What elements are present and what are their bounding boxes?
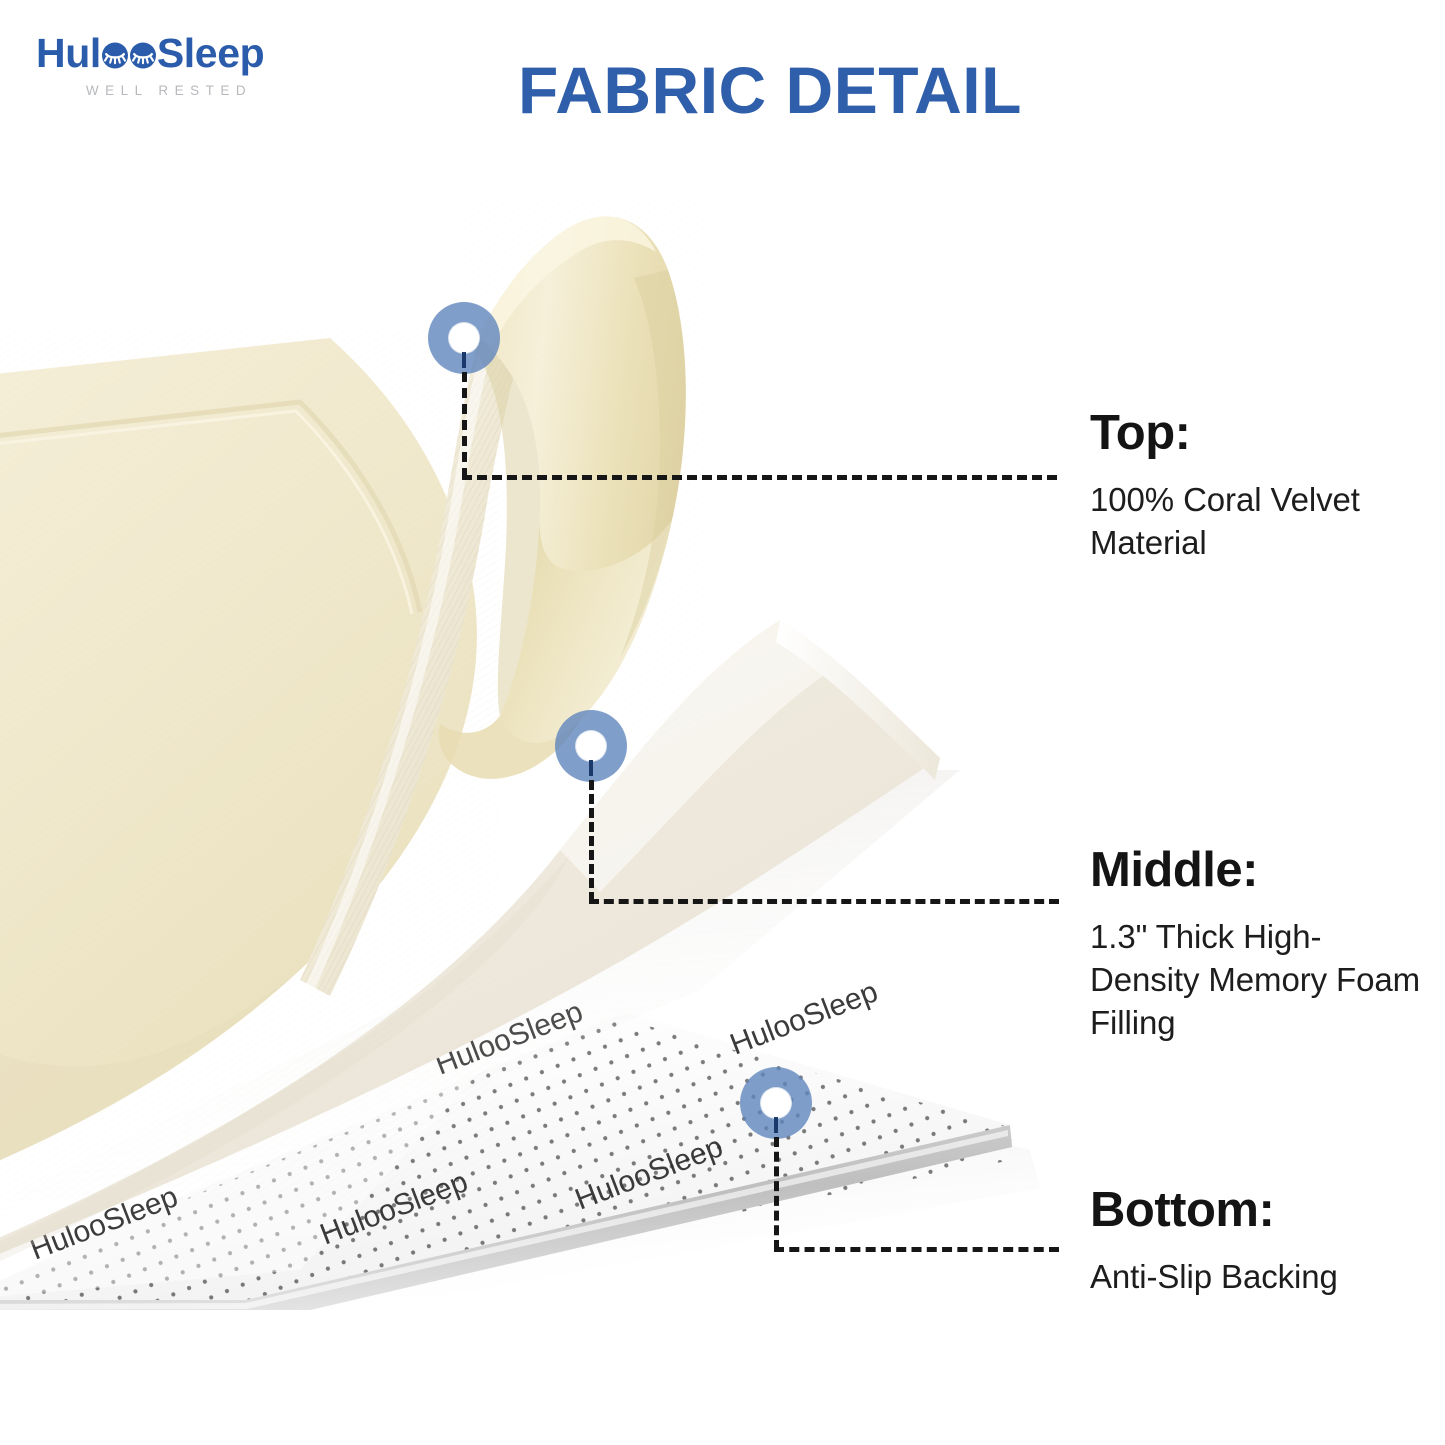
product-illustration: HulooSleep HulooSleep HulooSleep HulooSl… xyxy=(0,150,1060,1310)
brand-wordmark: Hul Sleep xyxy=(36,33,296,74)
marker-stem-top xyxy=(462,352,466,368)
leader-line-bottom-horizontal xyxy=(774,1247,1059,1252)
marker-core-middle xyxy=(576,731,606,761)
feature-top: Top: 100% Coral Velvet Material xyxy=(1090,408,1420,565)
leader-line-middle-vertical xyxy=(589,780,594,902)
feature-bottom-heading: Bottom: xyxy=(1090,1185,1420,1236)
feature-middle-heading: Middle: xyxy=(1090,845,1420,896)
feature-top-heading: Top: xyxy=(1090,408,1420,459)
svg-text:HulooSleep: HulooSleep xyxy=(726,975,883,1061)
leader-line-bottom-vertical xyxy=(774,1137,779,1250)
feature-top-description: 100% Coral Velvet Material xyxy=(1090,479,1420,565)
infographic-canvas: Hul Sleep WELL RESTED FABRIC DETAIL xyxy=(0,0,1445,1445)
marker-stem-middle xyxy=(589,760,593,776)
leader-line-top-horizontal xyxy=(462,475,1057,480)
marker-core-bottom xyxy=(761,1088,791,1118)
callout-marker-top xyxy=(428,302,500,374)
leader-line-middle-horizontal xyxy=(589,899,1059,904)
feature-bottom: Bottom: Anti-Slip Backing xyxy=(1090,1185,1420,1299)
callout-marker-middle xyxy=(555,710,627,782)
brand-tagline: WELL RESTED xyxy=(36,83,296,98)
marker-core-top xyxy=(449,323,479,353)
brand-logo: Hul Sleep WELL RESTED xyxy=(36,33,296,113)
feature-middle: Middle: 1.3" Thick High-Density Memory F… xyxy=(1090,845,1420,1045)
brand-name-part2: Sleep xyxy=(157,33,264,74)
brand-name-part1: Hul xyxy=(36,33,101,74)
leader-line-top-vertical xyxy=(462,372,467,478)
sleeping-eyes-icon xyxy=(102,42,156,69)
marker-stem-bottom xyxy=(774,1117,778,1133)
page-title: FABRIC DETAIL xyxy=(470,52,1070,128)
feature-bottom-description: Anti-Slip Backing xyxy=(1090,1256,1420,1299)
feature-middle-description: 1.3" Thick High-Density Memory Foam Fill… xyxy=(1090,916,1420,1045)
callout-marker-bottom xyxy=(740,1067,812,1139)
